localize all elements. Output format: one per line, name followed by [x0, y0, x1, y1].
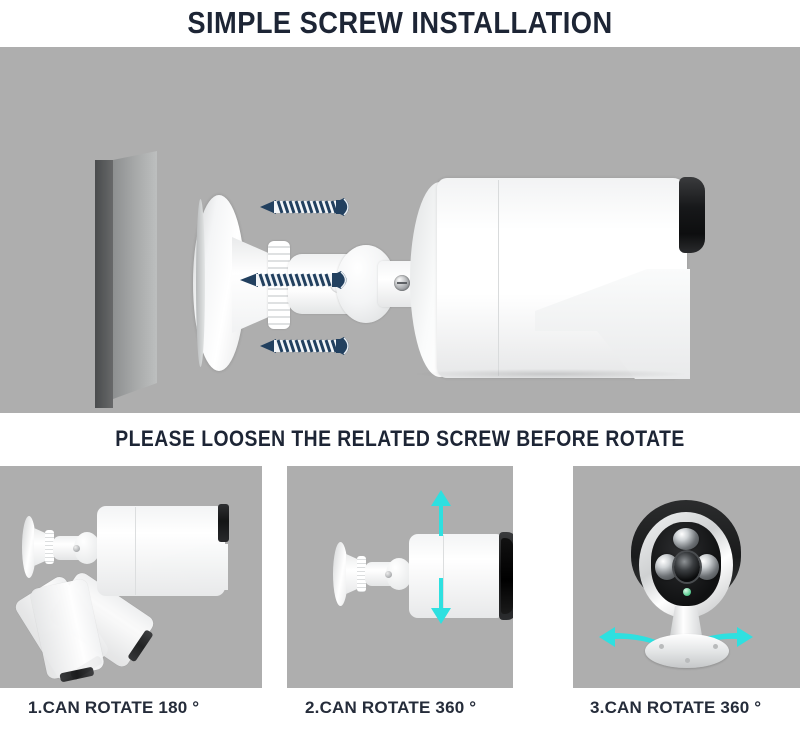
base-screw-hole [685, 658, 690, 663]
base-screw-hole [659, 644, 664, 649]
ir-led-icon [673, 528, 699, 550]
hero-illustration-panel [0, 47, 800, 413]
wall-block-face [95, 160, 113, 408]
camera-barrel-seam [135, 507, 136, 595]
camera-lens-glass [501, 538, 513, 614]
camera-lens-ring [218, 504, 229, 542]
camera-barrel-seam [498, 180, 499, 376]
panel-rotate-180 [0, 466, 262, 688]
wall-block-side [113, 151, 157, 399]
rotation-arrow-down-icon [430, 578, 452, 624]
panel-caption-2: 2.CAN ROTATE 360 ° [305, 698, 476, 718]
wall-mount-plate-edge [196, 199, 205, 367]
section-subtitle: PLEASE LOOSEN THE RELATED SCREW BEFORE R… [48, 425, 752, 453]
camera-lens-icon [674, 552, 700, 582]
camera-lens-ring [679, 177, 705, 253]
panel-caption-1: 1.CAN ROTATE 180 ° [28, 698, 199, 718]
wall-mount-plate [22, 516, 36, 578]
rotation-arrow-up-icon [430, 490, 452, 536]
base-screw-hole [713, 644, 718, 649]
status-led-icon [683, 588, 691, 596]
screw-icon [240, 269, 356, 291]
wall-mount-plate [333, 542, 348, 606]
panel-rotate-360-vertical [287, 466, 513, 688]
panel-caption-3: 3.CAN ROTATE 360 ° [590, 698, 761, 718]
bracket-arm-screw-icon [385, 571, 392, 578]
screw-icon [260, 196, 356, 218]
screw-icon [260, 335, 356, 357]
camera-drop-shadow [415, 369, 685, 379]
page-title: SIMPLE SCREW INSTALLATION [48, 3, 752, 43]
panel-rotate-360-horizontal [573, 466, 800, 688]
bracket-arm-screw-icon [73, 545, 80, 552]
camera-barrel [409, 534, 505, 618]
joint-screw-icon [394, 275, 410, 291]
